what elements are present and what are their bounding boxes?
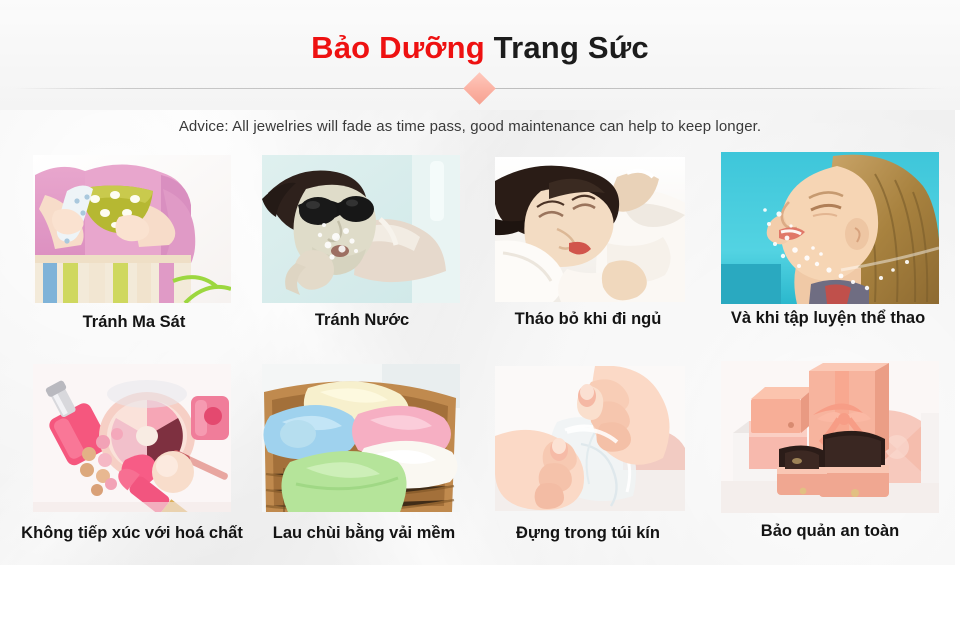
woman-holding-bowl-with-cloth-photo [33, 155, 231, 303]
tile-caption-3: Tháo bỏ khi đi ngủ [480, 310, 696, 329]
diamond-separator-icon [463, 72, 496, 105]
pastel-towels-in-basket-photo [262, 364, 460, 512]
tile-caption-7: Đựng trong túi kín [480, 524, 696, 543]
pink-cosmetics-flatlay-photo [33, 364, 231, 512]
woman-sleeping-in-bed-photo [495, 157, 685, 302]
woman-sweating-outdoors-photo [721, 152, 939, 304]
page-title-highlight: Bảo Dưỡng [311, 30, 485, 65]
bottom-margin-strip [0, 565, 960, 640]
hands-opening-zip-bag-photo [495, 366, 685, 511]
page-title-rest: Trang Sức [485, 30, 649, 65]
tile-caption-2: Tránh Nước [248, 311, 476, 330]
right-margin-strip [955, 110, 960, 565]
tile-image-5 [33, 364, 231, 512]
tile-caption-8: Bảo quản an toàn [702, 522, 958, 541]
tile-image-8 [721, 361, 939, 513]
jewelry-care-infographic: Bảo Dưỡng Trang Sức Advice: All jewelrie… [0, 0, 960, 640]
tile-caption-1: Tránh Ma Sát [0, 313, 268, 332]
tile-image-7 [495, 366, 685, 511]
tile-caption-6: Lau chùi bằng vải mềm [250, 524, 478, 543]
tile-image-4 [721, 152, 939, 304]
tile-caption-5: Không tiếp xúc với hoá chất [0, 524, 266, 543]
tile-caption-4: Và khi tập luyện thể thao [700, 309, 956, 328]
advice-text: Advice: All jewelries will fade as time … [0, 118, 940, 135]
pink-jewelry-gift-boxes-photo [721, 361, 939, 513]
tile-image-2 [262, 155, 460, 303]
tile-image-6 [262, 364, 460, 512]
tile-image-3 [495, 157, 685, 302]
tile-image-1 [33, 155, 231, 303]
page-title: Bảo Dưỡng Trang Sức [0, 30, 960, 66]
woman-swimming-underwater-photo [262, 155, 460, 303]
page-header: Bảo Dưỡng Trang Sức [0, 0, 960, 110]
